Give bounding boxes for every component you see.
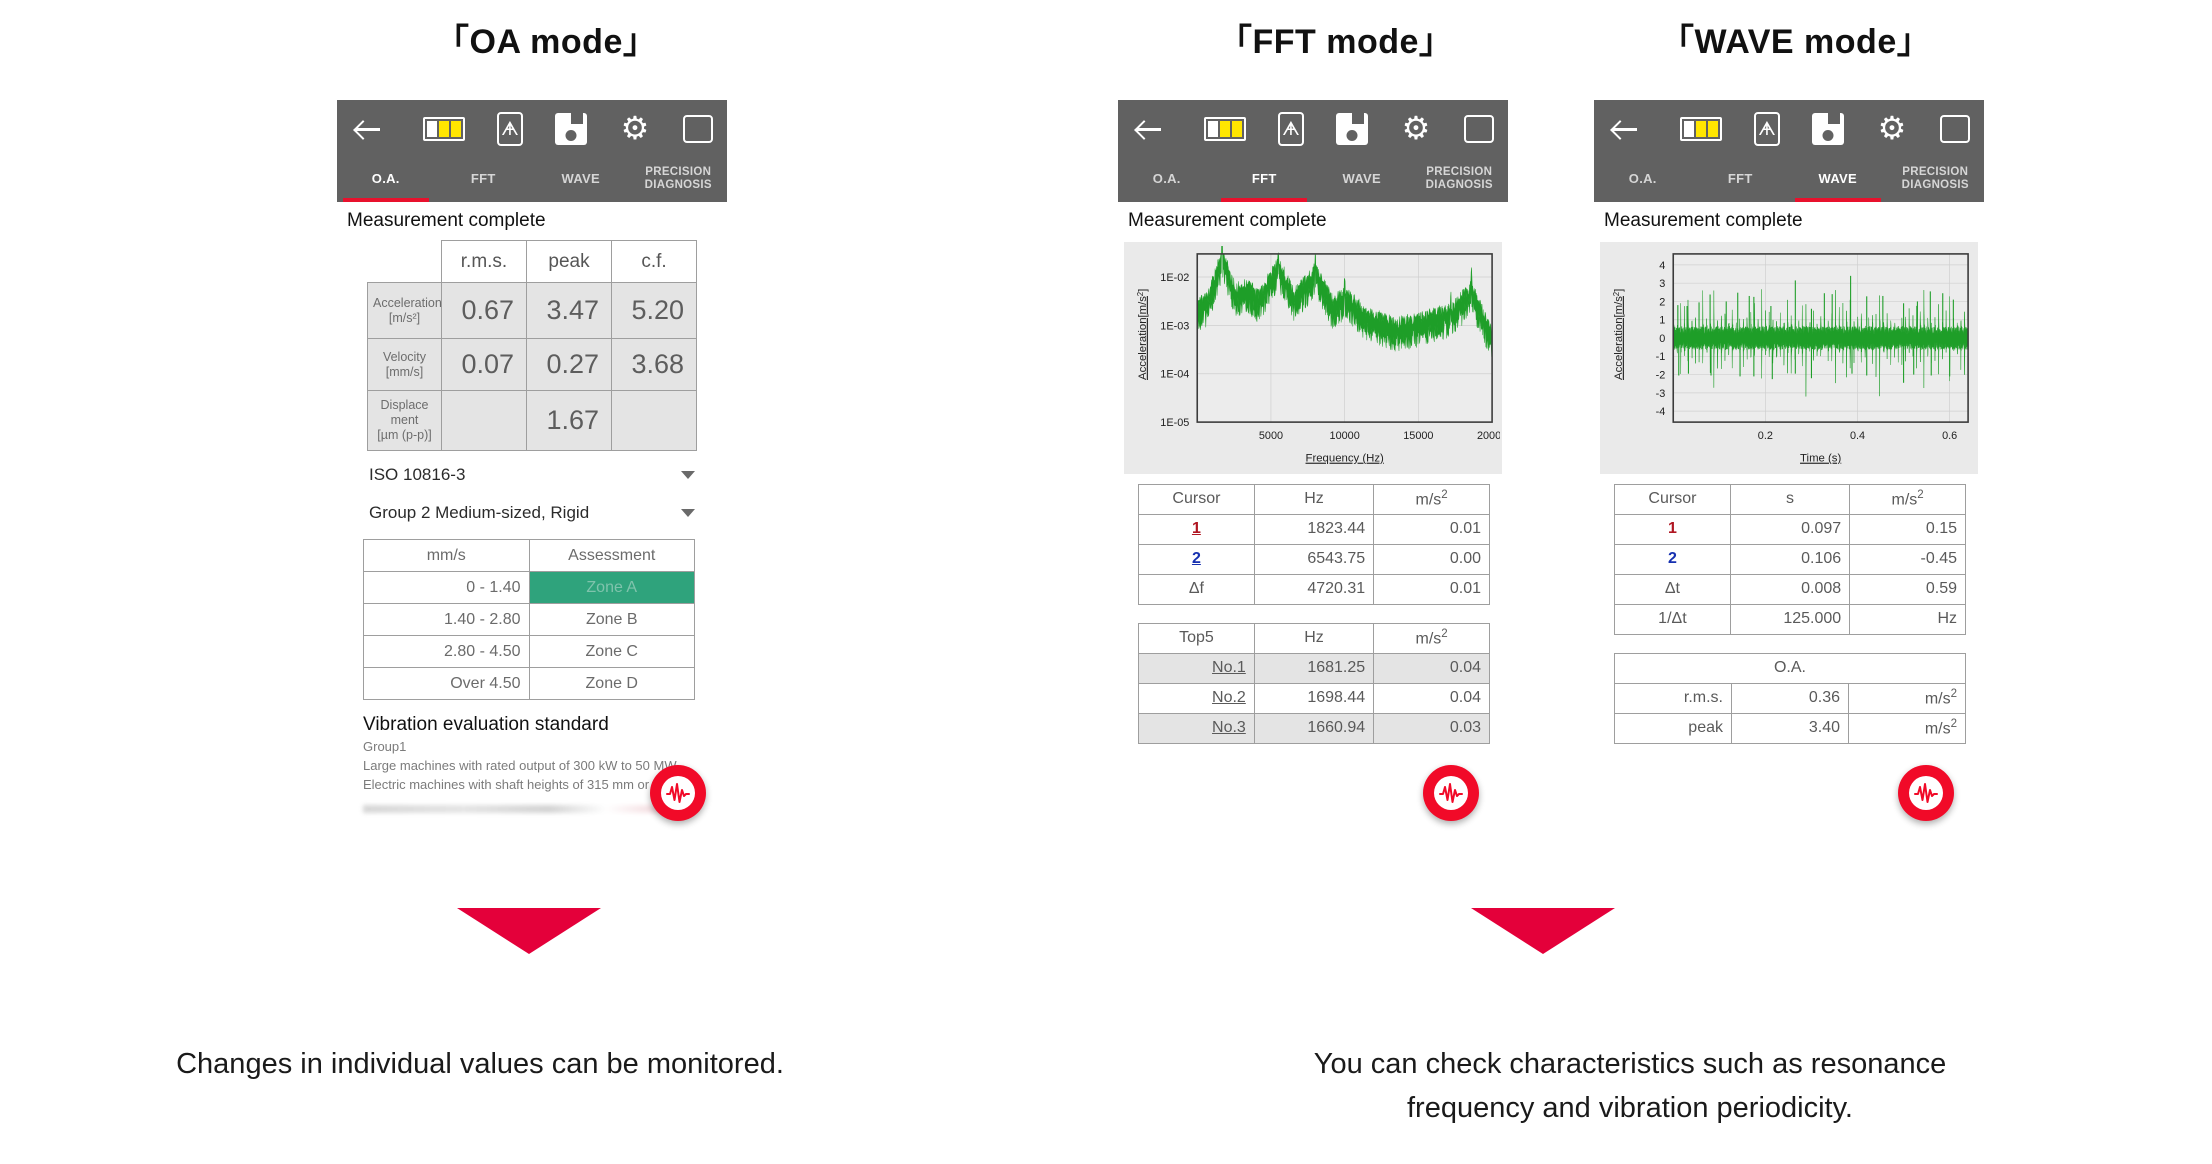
svg-text:4: 4	[1659, 260, 1665, 272]
fft-cursor-2[interactable]: 2	[1139, 544, 1255, 574]
table-row: Displace ment [µm (p-p)] 1.67	[368, 391, 697, 451]
save-icon[interactable]	[1336, 113, 1368, 145]
iso-zone-table: mm/s Assessment 0 - 1.40 Zone A 1.40 - 2…	[363, 539, 695, 700]
oa-row-label-velocity: Velocity [mm/s]	[368, 339, 442, 391]
wave-col-amp: m/s2	[1850, 484, 1966, 514]
waveform-icon	[1909, 776, 1943, 810]
fft-top5-table: Top5 Hz m/s2 No.1 1681.25 0.04 No.2 1698…	[1138, 623, 1490, 744]
table-row: 2.80 - 4.50 Zone C	[364, 636, 695, 668]
tab-precision-diagnosis[interactable]: PRECISION DIAGNOSIS	[630, 158, 728, 202]
svg-text:20000: 20000	[1477, 430, 1500, 442]
wave-inv-delta-t-value: 125.000	[1730, 604, 1849, 634]
measure-fab-button-oa[interactable]	[650, 765, 706, 821]
panel-bottom-fade	[1118, 845, 1508, 855]
vibration-standard-group: Group1	[363, 738, 727, 757]
svg-text:1: 1	[1659, 315, 1665, 327]
tab-wave[interactable]: WAVE	[1313, 158, 1411, 202]
zone-label-a: Zone A	[529, 572, 695, 604]
wave-cursor-2[interactable]: 2	[1615, 544, 1731, 574]
save-icon[interactable]	[1812, 113, 1844, 145]
svg-text:15000: 15000	[1403, 430, 1433, 442]
fft-top5-no2[interactable]: No.2	[1139, 683, 1255, 713]
svg-text:-4: -4	[1656, 406, 1666, 418]
svg-text:Acceleration[m/s: Acceleration[m/s	[1137, 296, 1149, 380]
vibration-standard-title: Vibration evaluation standard	[363, 714, 727, 736]
wave-inv-delta-t-label: 1/Δt	[1615, 604, 1731, 634]
wave-oa-peak-value: 3.40	[1732, 713, 1849, 743]
dropdown-standard[interactable]: ISO 10816-3	[367, 461, 697, 489]
fft-delta-f-label: Δf	[1139, 574, 1255, 604]
table-header-row: O.A.	[1615, 653, 1966, 683]
fft-top5-no2-amp: 0.04	[1374, 683, 1490, 713]
gear-icon[interactable]: ⚙	[1400, 113, 1432, 145]
table-row: peak 3.40 m/s2	[1615, 713, 1966, 743]
fft-col-top5-amp: m/s2	[1374, 623, 1490, 653]
panel-bottom-fade	[1594, 845, 1984, 855]
table-header-row: Top5 Hz m/s2	[1139, 623, 1490, 653]
caption-left: Changes in individual values can be moni…	[70, 1043, 890, 1087]
measure-fab-button-wave[interactable]	[1898, 765, 1954, 821]
caption-right-line2: frequency and vibration periodicity.	[1110, 1087, 2150, 1131]
status-text-fft: Measurement complete	[1118, 202, 1508, 238]
gear-icon[interactable]: ⚙	[1876, 113, 1908, 145]
table-row: Over 4.50 Zone D	[364, 668, 695, 700]
bluetooth-icon[interactable]: ᗗ	[1754, 112, 1780, 146]
wave-cursor-1[interactable]: 1	[1615, 514, 1731, 544]
table-header-row: mm/s Assessment	[364, 540, 695, 572]
bluetooth-icon[interactable]: ᗗ	[497, 112, 523, 146]
table-row: Δt 0.008 0.59	[1615, 574, 1966, 604]
oa-row-label-acceleration: Acceleration [m/s²]	[368, 283, 442, 339]
wave-col-s: s	[1730, 484, 1849, 514]
tab-wave[interactable]: WAVE	[532, 158, 630, 202]
zone-range-b: 1.40 - 2.80	[364, 604, 530, 636]
tab-bar-oa: O.A. FFT WAVE PRECISION DIAGNOSIS	[337, 158, 727, 202]
caption-right: You can check characteristics such as re…	[1110, 1043, 2150, 1130]
table-header-row: Cursor Hz m/s2	[1139, 484, 1490, 514]
dropdown-standard-value: ISO 10816-3	[369, 465, 465, 485]
fft-top5-no3[interactable]: No.3	[1139, 713, 1255, 743]
tab-fft[interactable]: FFT	[435, 158, 533, 202]
svg-text:1E-03: 1E-03	[1160, 320, 1189, 332]
fft-top5-no3-hz: 1660.94	[1254, 713, 1373, 743]
fft-cursor-table: Cursor Hz m/s2 1 1823.44 0.01 2 6543.75 …	[1138, 484, 1490, 605]
heading-wave-mode: 「WAVE mode」	[1660, 14, 1931, 63]
table-row: No.3 1660.94 0.03	[1139, 713, 1490, 743]
table-header-row: Cursor s m/s2	[1615, 484, 1966, 514]
app-bar-oa: ᗗ ⚙ O.A. FFT WAVE PRECISION DIAGNOSIS	[337, 100, 727, 202]
tab-oa[interactable]: O.A.	[1118, 158, 1216, 202]
oa-velocity-rms: 0.07	[442, 339, 527, 391]
measure-fab-button-fft[interactable]	[1423, 765, 1479, 821]
wave-oa-rms-label: r.m.s.	[1615, 683, 1732, 713]
zone-range-d: Over 4.50	[364, 668, 530, 700]
chevron-down-icon	[681, 509, 695, 517]
zone-col-mms: mm/s	[364, 540, 530, 572]
oa-measurement-table: r.m.s. peak c.f. Acceleration [m/s²] 0.6…	[367, 240, 697, 451]
zone-label-b: Zone B	[529, 604, 695, 636]
gear-icon[interactable]: ⚙	[619, 113, 651, 145]
svg-text:Time (s): Time (s)	[1800, 453, 1841, 465]
oa-accel-rms: 0.67	[442, 283, 527, 339]
table-row: 0 - 1.40 Zone A	[364, 572, 695, 604]
tab-precision-diagnosis[interactable]: PRECISION DIAGNOSIS	[1887, 158, 1985, 202]
oa-corner-cell	[368, 241, 442, 283]
blurred-text-placeholder	[363, 805, 701, 813]
fft-col-cursor: Cursor	[1139, 484, 1255, 514]
fft-spectrum-chart[interactable]: 1E-021E-031E-041E-055000100001500020000F…	[1124, 242, 1502, 474]
wave-timeseries-chart[interactable]: 43210-1-2-3-40.20.40.6Time (s)Accelerati…	[1600, 242, 1978, 474]
zone-range-a: 0 - 1.40	[364, 572, 530, 604]
oa-col-rms: r.m.s.	[442, 241, 527, 283]
table-row: Δf 4720.31 0.01	[1139, 574, 1490, 604]
wave-oa-rms-value: 0.36	[1732, 683, 1849, 713]
tab-oa[interactable]: O.A.	[337, 158, 435, 202]
oa-col-cf: c.f.	[612, 241, 697, 283]
waveform-icon	[1434, 776, 1468, 810]
oa-velocity-cf: 3.68	[612, 339, 697, 391]
svg-text:-3: -3	[1656, 388, 1666, 400]
oa-col-peak: peak	[527, 241, 612, 283]
battery-icon[interactable]	[1204, 117, 1246, 141]
dropdown-group-value: Group 2 Medium-sized, Rigid	[369, 503, 589, 523]
tab-precision-diagnosis[interactable]: PRECISION DIAGNOSIS	[1411, 158, 1509, 202]
table-header-row: r.m.s. peak c.f.	[368, 241, 697, 283]
heading-fft-mode: 「FFT mode」	[1218, 14, 1453, 63]
table-row: No.1 1681.25 0.04	[1139, 653, 1490, 683]
dropdown-group[interactable]: Group 2 Medium-sized, Rigid	[367, 499, 697, 527]
tab-bar-fft: O.A. FFT WAVE PRECISION DIAGNOSIS	[1118, 158, 1508, 202]
wave-oa-title: O.A.	[1615, 653, 1966, 683]
chevron-down-icon	[681, 471, 695, 479]
wave-oa-rms-unit: m/s2	[1849, 683, 1966, 713]
svg-text:2: 2	[1659, 296, 1665, 308]
wave-delta-t-label: Δt	[1615, 574, 1731, 604]
table-row: 1/Δt 125.000 Hz	[1615, 604, 1966, 634]
table-row: r.m.s. 0.36 m/s2	[1615, 683, 1966, 713]
fft-cursor-2-hz: 6543.75	[1254, 544, 1373, 574]
app-bar-wave: ᗗ ⚙ O.A. FFT WAVE PRECISION DIAGNOSIS	[1594, 100, 1984, 202]
tab-bar-wave: O.A. FFT WAVE PRECISION DIAGNOSIS	[1594, 158, 1984, 202]
fft-top5-no1-hz: 1681.25	[1254, 653, 1373, 683]
fft-delta-f-hz: 4720.31	[1254, 574, 1373, 604]
fft-col-hz: Hz	[1254, 484, 1373, 514]
fft-col-amp: m/s2	[1374, 484, 1490, 514]
fft-cursor-1[interactable]: 1	[1139, 514, 1255, 544]
zone-label-c: Zone C	[529, 636, 695, 668]
wave-oa-table: O.A. r.m.s. 0.36 m/s2 peak 3.40 m/s2	[1614, 653, 1966, 744]
oa-displacement-cf	[612, 391, 697, 451]
wave-cursor-table: Cursor s m/s2 1 0.097 0.15 2 0.106 -0.45…	[1614, 484, 1966, 635]
stop-square-icon[interactable]	[683, 115, 713, 143]
svg-text:-1: -1	[1656, 351, 1666, 363]
fft-delta-f-amp: 0.01	[1374, 574, 1490, 604]
stop-square-icon[interactable]	[1464, 115, 1494, 143]
tab-oa[interactable]: O.A.	[1594, 158, 1692, 202]
wave-cursor-1-amp: 0.15	[1850, 514, 1966, 544]
svg-text:Frequency (Hz): Frequency (Hz)	[1306, 453, 1384, 465]
oa-displacement-peak: 1.67	[527, 391, 612, 451]
svg-text:Acceleration[m/s: Acceleration[m/s	[1613, 296, 1625, 380]
svg-text:0.2: 0.2	[1758, 430, 1773, 442]
tab-fft[interactable]: FFT	[1692, 158, 1790, 202]
wave-col-cursor: Cursor	[1615, 484, 1731, 514]
wave-delta-t-amp: 0.59	[1850, 574, 1966, 604]
wave-oa-peak-label: peak	[1615, 713, 1732, 743]
status-text-wave: Measurement complete	[1594, 202, 1984, 238]
oa-velocity-peak: 0.27	[527, 339, 612, 391]
tab-fft[interactable]: FFT	[1216, 158, 1314, 202]
svg-text:0.4: 0.4	[1850, 430, 1865, 442]
svg-text:1E-05: 1E-05	[1160, 417, 1189, 429]
wave-inv-delta-t-unit: Hz	[1850, 604, 1966, 634]
svg-text:10000: 10000	[1330, 430, 1360, 442]
phone-panel-wave: ᗗ ⚙ O.A. FFT WAVE PRECISION DIAGNOSIS Me…	[1594, 100, 1984, 855]
tab-wave[interactable]: WAVE	[1789, 158, 1887, 202]
fft-col-top5: Top5	[1139, 623, 1255, 653]
fft-cursor-1-amp: 0.01	[1374, 514, 1490, 544]
phone-panel-oa: ᗗ ⚙ O.A. FFT WAVE PRECISION DIAGNOSIS Me…	[337, 100, 727, 858]
wave-cursor-2-s: 0.106	[1730, 544, 1849, 574]
zone-col-assessment: Assessment	[529, 540, 695, 572]
table-row: 2 0.106 -0.45	[1615, 544, 1966, 574]
fft-top5-no1[interactable]: No.1	[1139, 653, 1255, 683]
status-text-oa: Measurement complete	[337, 202, 727, 238]
bluetooth-icon[interactable]: ᗗ	[1278, 112, 1304, 146]
fft-cursor-2-amp: 0.00	[1374, 544, 1490, 574]
fft-col-top5-hz: Hz	[1254, 623, 1373, 653]
waveform-icon	[661, 776, 695, 810]
table-row: 1 0.097 0.15	[1615, 514, 1966, 544]
svg-text:-2: -2	[1656, 370, 1666, 382]
svg-text:0: 0	[1659, 333, 1665, 345]
oa-displacement-rms	[442, 391, 527, 451]
down-arrow-left	[457, 908, 601, 954]
svg-text:3: 3	[1659, 278, 1665, 290]
fft-cursor-1-hz: 1823.44	[1254, 514, 1373, 544]
table-row: Acceleration [m/s²] 0.67 3.47 5.20	[368, 283, 697, 339]
zone-range-c: 2.80 - 4.50	[364, 636, 530, 668]
battery-icon[interactable]	[423, 117, 465, 141]
battery-icon[interactable]	[1680, 117, 1722, 141]
fft-top5-no2-hz: 1698.44	[1254, 683, 1373, 713]
svg-text:1E-02: 1E-02	[1160, 272, 1189, 284]
wave-delta-t-s: 0.008	[1730, 574, 1849, 604]
save-icon[interactable]	[555, 113, 587, 145]
heading-oa-mode: 「OA mode」	[435, 14, 657, 63]
oa-row-label-displacement: Displace ment [µm (p-p)]	[368, 391, 442, 451]
phone-panel-fft: ᗗ ⚙ O.A. FFT WAVE PRECISION DIAGNOSIS Me…	[1118, 100, 1508, 855]
fft-top5-no3-amp: 0.03	[1374, 713, 1490, 743]
svg-text:0.6: 0.6	[1942, 430, 1957, 442]
wave-cursor-2-amp: -0.45	[1850, 544, 1966, 574]
caption-right-line1: You can check characteristics such as re…	[1110, 1043, 2150, 1087]
wave-cursor-1-s: 0.097	[1730, 514, 1849, 544]
back-arrow-icon[interactable]	[351, 112, 385, 146]
svg-text:1E-04: 1E-04	[1160, 369, 1189, 381]
down-arrow-right	[1471, 908, 1615, 954]
oa-accel-peak: 3.47	[527, 283, 612, 339]
table-row: 1 1823.44 0.01	[1139, 514, 1490, 544]
table-row: Velocity [mm/s] 0.07 0.27 3.68	[368, 339, 697, 391]
wave-oa-peak-unit: m/s2	[1849, 713, 1966, 743]
table-row: 2 6543.75 0.00	[1139, 544, 1490, 574]
slide-root: 「OA mode」 「FFT mode」 「WAVE mode」 ᗗ ⚙ O.A…	[0, 0, 2212, 1164]
svg-text:5000: 5000	[1259, 430, 1283, 442]
zone-label-d: Zone D	[529, 668, 695, 700]
table-row: No.2 1698.44 0.04	[1139, 683, 1490, 713]
app-bar-fft: ᗗ ⚙ O.A. FFT WAVE PRECISION DIAGNOSIS	[1118, 100, 1508, 202]
back-arrow-icon[interactable]	[1132, 112, 1166, 146]
fft-top5-no1-amp: 0.04	[1374, 653, 1490, 683]
back-arrow-icon[interactable]	[1608, 112, 1642, 146]
stop-square-icon[interactable]	[1940, 115, 1970, 143]
table-row: 1.40 - 2.80 Zone B	[364, 604, 695, 636]
oa-accel-cf: 5.20	[612, 283, 697, 339]
